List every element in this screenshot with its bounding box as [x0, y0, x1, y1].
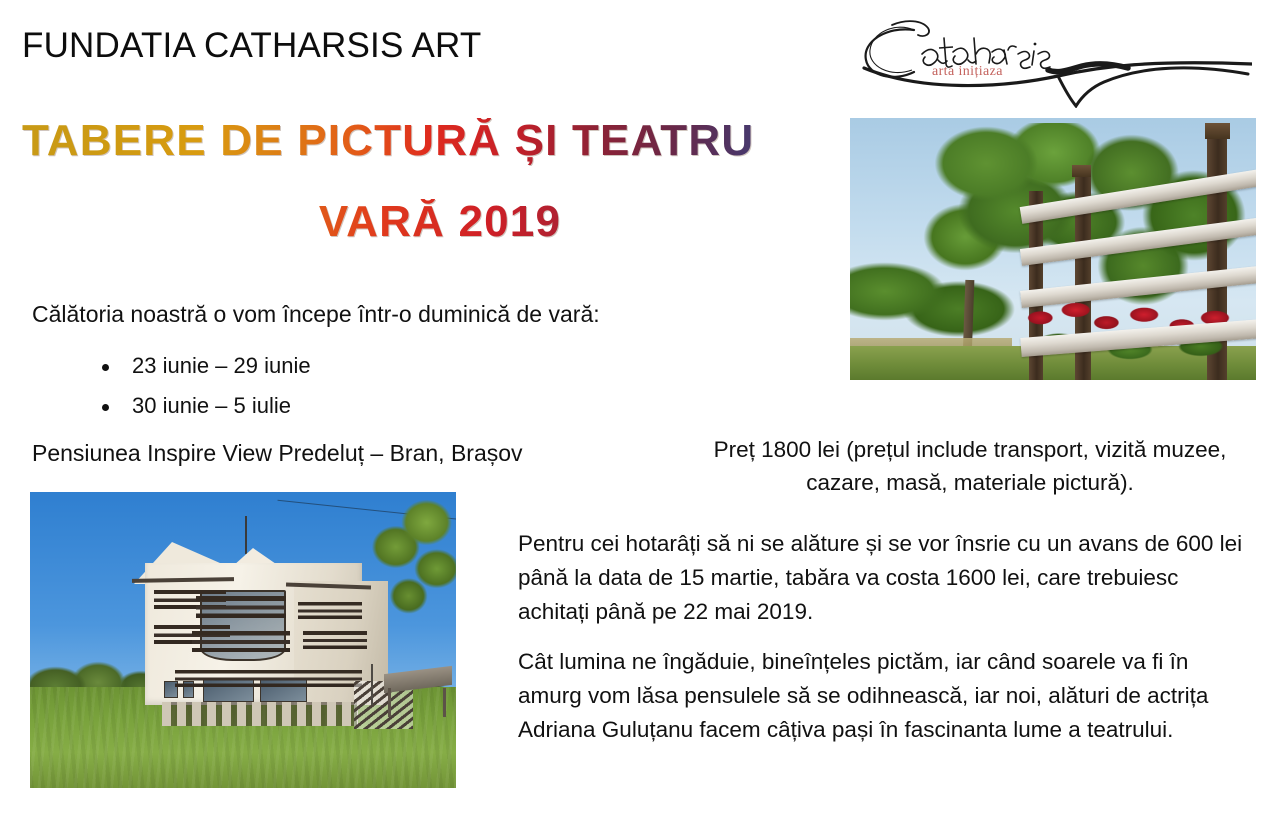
price-text: Preț 1800 lei (prețul include transport,…	[690, 434, 1250, 500]
fence-post-cap	[1072, 165, 1091, 177]
catharsis-logo: arta inițiaza	[852, 8, 1252, 108]
intro-text: Călătoria noastră o vom începe într-o du…	[32, 301, 600, 328]
theatre-text: Cât lumina ne îngăduie, bineînțeles pict…	[518, 645, 1253, 748]
garden-shelter	[384, 670, 452, 717]
headline-block: TABERE DE PICTURĂ ȘI TEATRU VARĂ 2019	[0, 118, 840, 245]
photo-guesthouse	[30, 492, 456, 788]
session-date-list: 23 iunie – 29 iunie 30 iunie – 5 iulie	[98, 355, 311, 435]
shelter-post	[443, 688, 446, 717]
advance-payment-text: Pentru cei hotarâți să ni se alăture și …	[518, 527, 1253, 630]
fence-post-cap	[1205, 123, 1230, 139]
shelter-roof	[384, 665, 452, 692]
house-balcony	[298, 602, 362, 620]
catharsis-logo-mark	[852, 8, 1252, 108]
list-item: 30 iunie – 5 iulie	[98, 395, 311, 417]
headline-line-1: TABERE DE PICTURĂ ȘI TEATRU	[22, 118, 840, 165]
organisation-title: FUNDATIA CATHARSIS ART	[22, 26, 481, 66]
house-terrace-railing	[175, 670, 362, 688]
house-balcony	[196, 596, 285, 618]
house-balcony	[192, 631, 290, 652]
shelter-post	[388, 688, 391, 717]
headline-line-2: VARĂ 2019	[0, 199, 840, 246]
venue-text: Pensiunea Inspire View Predeluț – Bran, …	[32, 440, 523, 467]
poster-canvas: FUNDATIA CATHARSIS ART	[0, 0, 1274, 821]
logo-tagline: arta inițiaza	[932, 64, 1003, 80]
utility-pole	[371, 664, 373, 705]
house-foundation-piers	[162, 702, 358, 726]
list-item: 23 iunie – 29 iunie	[98, 355, 311, 377]
photo-wooden-fence	[850, 118, 1256, 380]
house-balcony	[303, 631, 367, 649]
